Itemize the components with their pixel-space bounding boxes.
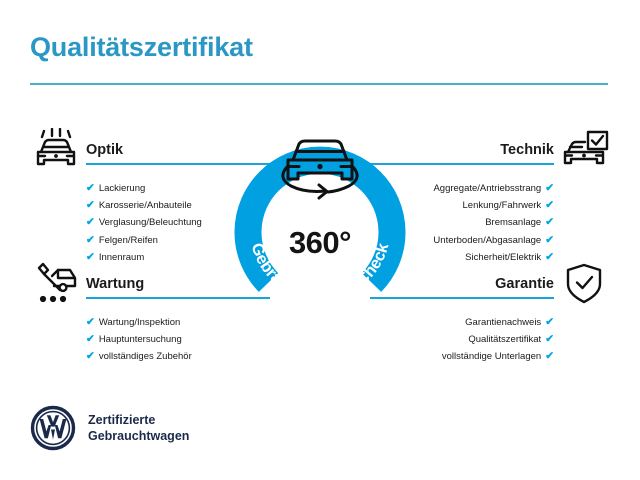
list-item-label: Lackierung (99, 183, 145, 194)
check-icon: ✔ (545, 216, 554, 228)
check-icon: ✔ (545, 234, 554, 246)
check-icon: ✔ (86, 316, 95, 328)
badge-360-gebrauchtwagen-check: Gebrauchtwagen-Check 360° (233, 122, 407, 318)
list-item-label: Bremsanlage (485, 217, 541, 228)
car-checkbox-icon (558, 128, 610, 172)
footer-line-2: Gebrauchtwagen (88, 428, 189, 444)
car-front-shine-icon (30, 128, 82, 172)
list-item-label: Lenkung/Fahrwerk (463, 200, 542, 211)
list-item: ✔Hauptuntersuchung (86, 331, 270, 348)
volkswagen-logo (30, 405, 76, 451)
checklist-garantie: Garantienachweis✔ Qualitätszertifikat✔ v… (370, 314, 554, 366)
check-icon: ✔ (86, 199, 95, 211)
list-item: Qualitätszertifikat✔ (370, 331, 554, 348)
check-icon: ✔ (86, 350, 95, 362)
list-item-label: Verglasung/Beleuchtung (99, 217, 202, 228)
title-divider (30, 83, 608, 85)
list-item-label: vollständiges Zubehör (99, 351, 192, 362)
footer-brand: Zertifizierte Gebrauchtwagen (30, 405, 189, 451)
list-item: vollständige Unterlagen✔ (370, 348, 554, 365)
check-icon: ✔ (86, 182, 95, 194)
check-icon: ✔ (545, 251, 554, 263)
car-service-pen-icon (30, 262, 82, 306)
list-item-label: Aggregate/Antriebsstrang (433, 183, 541, 194)
check-icon: ✔ (545, 182, 554, 194)
check-icon: ✔ (86, 234, 95, 246)
list-item-label: Karosserie/Anbauteile (99, 200, 192, 211)
check-icon: ✔ (545, 199, 554, 211)
checklist-wartung: ✔Wartung/Inspektion ✔Hauptuntersuchung ✔… (86, 314, 270, 366)
list-item-label: Hauptuntersuchung (99, 334, 182, 345)
list-item-label: vollständige Unterlagen (442, 351, 541, 362)
badge-degrees: 360° (233, 225, 407, 261)
list-item-label: Unterboden/Abgasanlage (433, 235, 541, 246)
list-item-label: Wartung/Inspektion (99, 317, 181, 328)
certificate-page: Qualitätszertifikat (0, 0, 640, 480)
check-icon: ✔ (545, 316, 554, 328)
check-icon: ✔ (86, 333, 95, 345)
list-item-label: Felgen/Reifen (99, 235, 158, 246)
check-icon: ✔ (86, 251, 95, 263)
footer-brand-text: Zertifizierte Gebrauchtwagen (88, 412, 189, 444)
check-icon: ✔ (86, 216, 95, 228)
check-icon: ✔ (545, 333, 554, 345)
list-item-label: Qualitätszertifikat (468, 334, 541, 345)
footer-line-1: Zertifizierte (88, 412, 189, 428)
list-item: ✔vollständiges Zubehör (86, 348, 270, 365)
check-icon: ✔ (545, 350, 554, 362)
page-title: Qualitätszertifikat (30, 32, 253, 63)
shield-check-icon (558, 262, 610, 306)
list-item-label: Garantienachweis (465, 317, 541, 328)
